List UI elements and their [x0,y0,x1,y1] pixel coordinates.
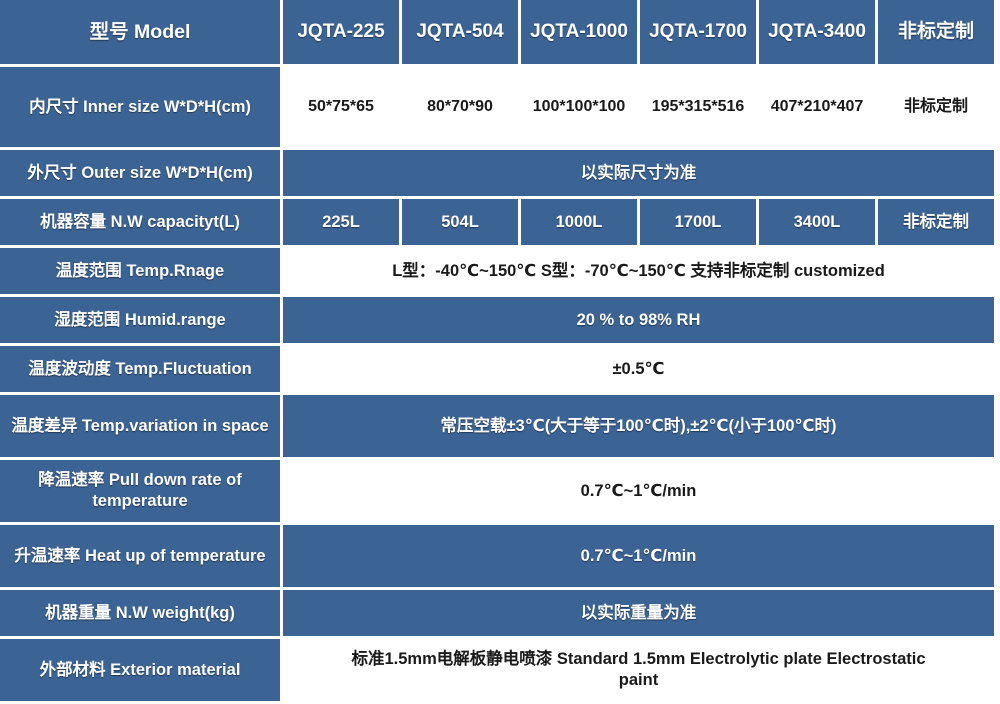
cell-temp-fluctuation-value: ±0.5℃ [283,346,994,392]
cell-capacity-custom: 非标定制 [878,199,994,245]
cell-humidity-range-value: 20 % to 98% RH [283,297,994,343]
cell-model-3400: JQTA-3400 [759,0,875,64]
row-label-weight: 机器重量 N.W weight(kg) [0,590,280,636]
cell-capacity-1000: 1000L [521,199,637,245]
row-label-outer-size: 外尺寸 Outer size W*D*H(cm) [0,150,280,196]
cell-capacity-3400: 3400L [759,199,875,245]
table-row-temp-variation: 温度差异 Temp.variation in space 常压空载±3℃(大于等… [0,395,994,457]
exterior-material-line2: paint [287,670,990,691]
cell-temp-variation-value: 常压空载±3℃(大于等于100℃时),±2℃(小于100℃时) [283,395,994,457]
row-label-model: 型号 Model [0,0,280,64]
row-label-humidity-range: 湿度范围 Humid.range [0,297,280,343]
table-row-pull-down-rate: 降温速率 Pull down rate of temperature 0.7℃~… [0,460,994,522]
cell-inner-3400: 407*210*407 [759,67,875,147]
table-row-temp-fluctuation: 温度波动度 Temp.Fluctuation ±0.5℃ [0,346,994,392]
cell-capacity-1700: 1700L [640,199,756,245]
row-label-pull-down-rate: 降温速率 Pull down rate of temperature [0,460,280,522]
cell-inner-1000: 100*100*100 [521,67,637,147]
table-row-exterior-material: 外部材料 Exterior material 标准1.5mm电解板静电喷漆 St… [0,639,994,701]
cell-model-custom: 非标定制 [878,0,994,64]
cell-pull-down-rate-value: 0.7℃~1℃/min [283,460,994,522]
row-label-inner-size: 内尺寸 Inner size W*D*H(cm) [0,67,280,147]
cell-inner-1700: 195*315*516 [640,67,756,147]
cell-model-1000: JQTA-1000 [521,0,637,64]
cell-heat-up-rate-value: 0.7℃~1℃/min [283,525,994,587]
row-label-temp-range: 温度范围 Temp.Rnage [0,248,280,294]
cell-weight-value: 以实际重量为准 [283,590,994,636]
table-row-weight: 机器重量 N.W weight(kg) 以实际重量为准 [0,590,994,636]
row-label-heat-up-rate: 升温速率 Heat up of temperature [0,525,280,587]
cell-model-1700: JQTA-1700 [640,0,756,64]
table-row-outer-size: 外尺寸 Outer size W*D*H(cm) 以实际尺寸为准 [0,150,994,196]
table-row-temp-range: 温度范围 Temp.Rnage L型：-40℃~150℃ S型：-70℃~150… [0,248,994,294]
table-row-model: 型号 Model JQTA-225 JQTA-504 JQTA-1000 JQT… [0,0,994,64]
specification-table: 型号 Model JQTA-225 JQTA-504 JQTA-1000 JQT… [0,0,997,704]
table-row-humidity-range: 湿度范围 Humid.range 20 % to 98% RH [0,297,994,343]
table-row-inner-size: 内尺寸 Inner size W*D*H(cm) 50*75*65 80*70*… [0,67,994,147]
cell-model-225: JQTA-225 [283,0,399,64]
cell-capacity-504: 504L [402,199,518,245]
row-label-capacity: 机器容量 N.W capacityt(L) [0,199,280,245]
row-label-temp-fluctuation: 温度波动度 Temp.Fluctuation [0,346,280,392]
cell-inner-504: 80*70*90 [402,67,518,147]
row-label-temp-variation: 温度差异 Temp.variation in space [0,395,280,457]
exterior-material-line1: 标准1.5mm电解板静电喷漆 Standard 1.5mm Electrolyt… [352,650,926,668]
cell-temp-range-value: L型：-40℃~150℃ S型：-70℃~150℃ 支持非标定制 customi… [283,248,994,294]
cell-model-504: JQTA-504 [402,0,518,64]
cell-inner-225: 50*75*65 [283,67,399,147]
cell-outer-size-value: 以实际尺寸为准 [283,150,994,196]
table-row-heat-up-rate: 升温速率 Heat up of temperature 0.7℃~1℃/min [0,525,994,587]
row-label-exterior-material: 外部材料 Exterior material [0,639,280,701]
cell-exterior-material-value: 标准1.5mm电解板静电喷漆 Standard 1.5mm Electrolyt… [283,639,994,701]
cell-inner-custom: 非标定制 [878,67,994,147]
cell-capacity-225: 225L [283,199,399,245]
table-row-capacity: 机器容量 N.W capacityt(L) 225L 504L 1000L 17… [0,199,994,245]
